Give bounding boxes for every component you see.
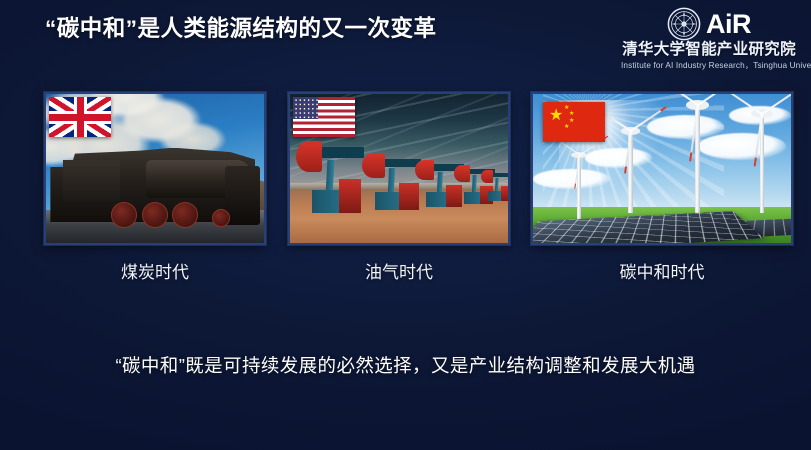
closing-statement: “碳中和”既是可持续发展的必然选择，又是产业结构调整和发展大机遇 [0,352,811,378]
logo-english-name: Institute for AI Industry Research，Tsing… [621,60,797,71]
locomotive-front [225,166,260,226]
slide-canvas: “碳中和”是人类能源结构的又一次变革 [0,0,811,450]
page-title: “碳中和”是人类能源结构的又一次变革 [45,14,475,44]
cn-flag-icon: ★ ★ ★ ★ ★ [543,102,605,142]
driving-wheel [142,202,168,228]
air-tsinghua-logo: AiR 清华大学智能产业研究院 Institute for AI Industr… [621,6,797,72]
leading-wheel [212,209,230,227]
panel-oil-gas-era [288,92,510,245]
wind-turbine [734,112,791,213]
logo-chinese-name: 清华大学智能产业研究院 [621,41,797,59]
logo-top-row: AiR [621,6,797,42]
tsinghua-seal-icon [667,7,701,41]
pumpjack [482,171,508,201]
wind-turbine [605,130,657,213]
air-acronym: AiR [706,9,751,39]
caption-coal-era: 煤炭时代 [44,261,266,285]
wind-turbine [559,154,600,220]
us-flag-icon [293,97,355,137]
panel-carbon-neutral-era: ★ ★ ★ ★ ★ [531,92,793,245]
pumpjack [364,157,421,211]
pumpjack [299,145,364,214]
wind-turbine [667,103,729,213]
panel-coal-era [44,92,266,245]
caption-oil-gas-era: 油气时代 [288,261,510,285]
caption-carbon-neutral-era: 碳中和时代 [531,261,793,285]
uk-flag-icon [49,97,111,137]
locomotive-cab [63,160,120,202]
